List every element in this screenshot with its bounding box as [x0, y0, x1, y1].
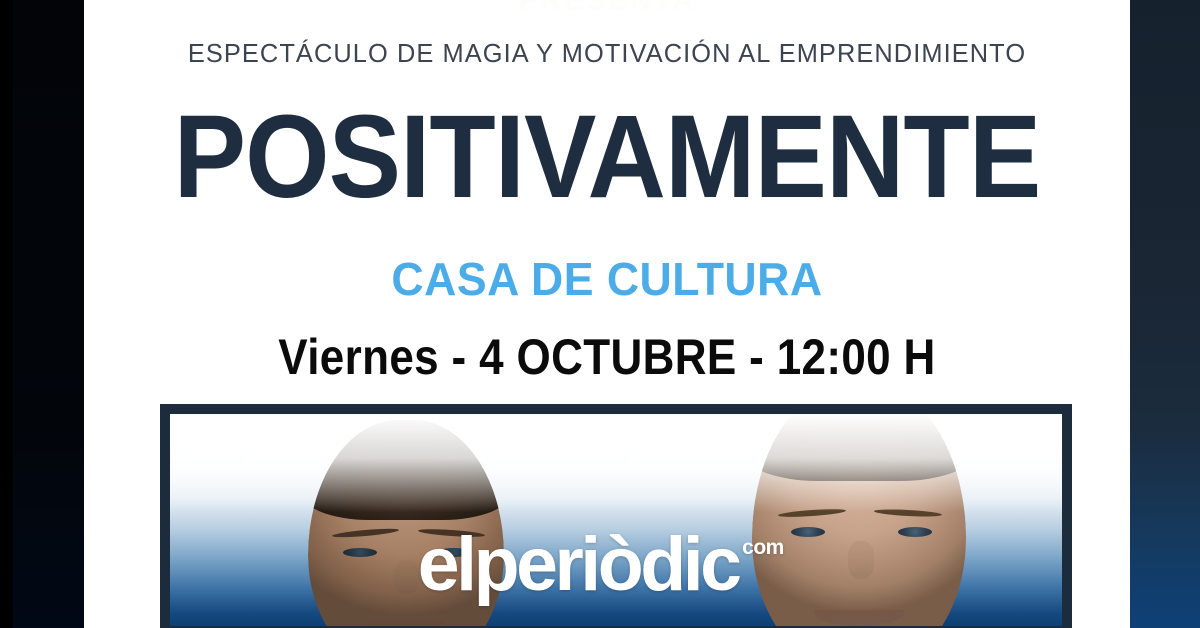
right-face-eye-right [898, 527, 932, 537]
right-face-hair [752, 414, 966, 481]
photo-image [170, 414, 1062, 626]
left-black-edge [0, 0, 13, 628]
poster-screenshot: PRESENTA ESPECTÁCULO DE MAGIA Y MOTIVACI… [0, 0, 1200, 628]
right-face-nose [848, 541, 874, 579]
left-performer-face [308, 420, 504, 626]
photo-frame [160, 404, 1072, 628]
left-face-nose [394, 560, 419, 594]
left-face-eye-left [343, 548, 376, 557]
poster-venue: CASA DE CULTURA [100, 252, 1115, 306]
left-face-mouth [367, 620, 445, 626]
left-face-eye-right [437, 548, 470, 557]
poster-datetime: Viernes - 4 OCTUBRE - 12:00 H [147, 328, 1067, 386]
right-letterbox-bar [1130, 0, 1200, 628]
poster-main-title: POSITIVAMENTE [126, 96, 1088, 220]
left-face-hair [308, 420, 504, 520]
right-face-eye-left [791, 527, 825, 537]
poster-card: PRESENTA ESPECTÁCULO DE MAGIA Y MOTIVACI… [84, 0, 1130, 628]
clipped-top-headline: PRESENTA [84, 0, 1130, 18]
right-performer-face [752, 414, 966, 626]
poster-subtitle: ESPECTÁCULO DE MAGIA Y MOTIVACIÓN AL EMP… [87, 40, 1128, 69]
